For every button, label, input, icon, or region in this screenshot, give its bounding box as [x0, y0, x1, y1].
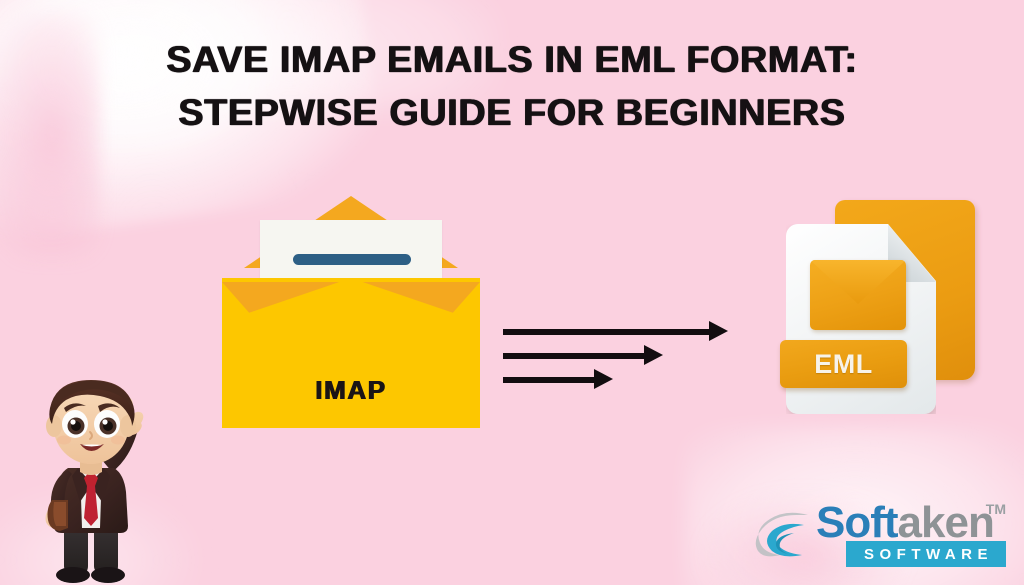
title-line-2: STEPWISE GUIDE FOR BEGINNERS	[0, 87, 1024, 140]
eml-envelope-glyph	[810, 260, 906, 330]
logo-tagline: SOFTWARE	[859, 546, 993, 563]
arrow-shaft	[503, 329, 711, 335]
trademark-symbol: TM	[986, 501, 1006, 517]
arrow-shaft	[503, 353, 646, 359]
softaken-wordmark: Softaken	[816, 501, 994, 545]
eml-file-icon: EML	[780, 200, 975, 420]
softaken-logo[interactable]: Softaken TM SOFTWARE	[750, 499, 1008, 573]
logo-tagline-bar: SOFTWARE	[846, 541, 1006, 567]
arrow-shaft	[503, 377, 596, 383]
imap-label: IMAP	[222, 375, 480, 406]
eml-format-badge: EML	[780, 340, 907, 388]
businessman-mascot-icon	[16, 368, 166, 585]
arrow-head	[644, 345, 663, 365]
logo-word-secondary: aken	[898, 498, 994, 547]
three-right-arrows-icon	[503, 318, 743, 394]
eml-badge-label: EML	[814, 349, 873, 380]
softaken-swoosh-icon	[750, 507, 822, 567]
letter-text-line	[293, 254, 411, 265]
arrow-head	[709, 321, 728, 341]
logo-word-primary: Soft	[816, 498, 898, 547]
eml-envelope-flap	[810, 260, 906, 304]
title-line-1: SAVE IMAP EMAILS IN EML FORMAT:	[0, 34, 1024, 87]
open-envelope-icon: IMAP	[222, 196, 480, 428]
arrow-head	[594, 369, 613, 389]
page-title: SAVE IMAP EMAILS IN EML FORMAT: STEPWISE…	[0, 34, 1024, 139]
banner-canvas: SAVE IMAP EMAILS IN EML FORMAT: STEPWISE…	[0, 0, 1024, 585]
